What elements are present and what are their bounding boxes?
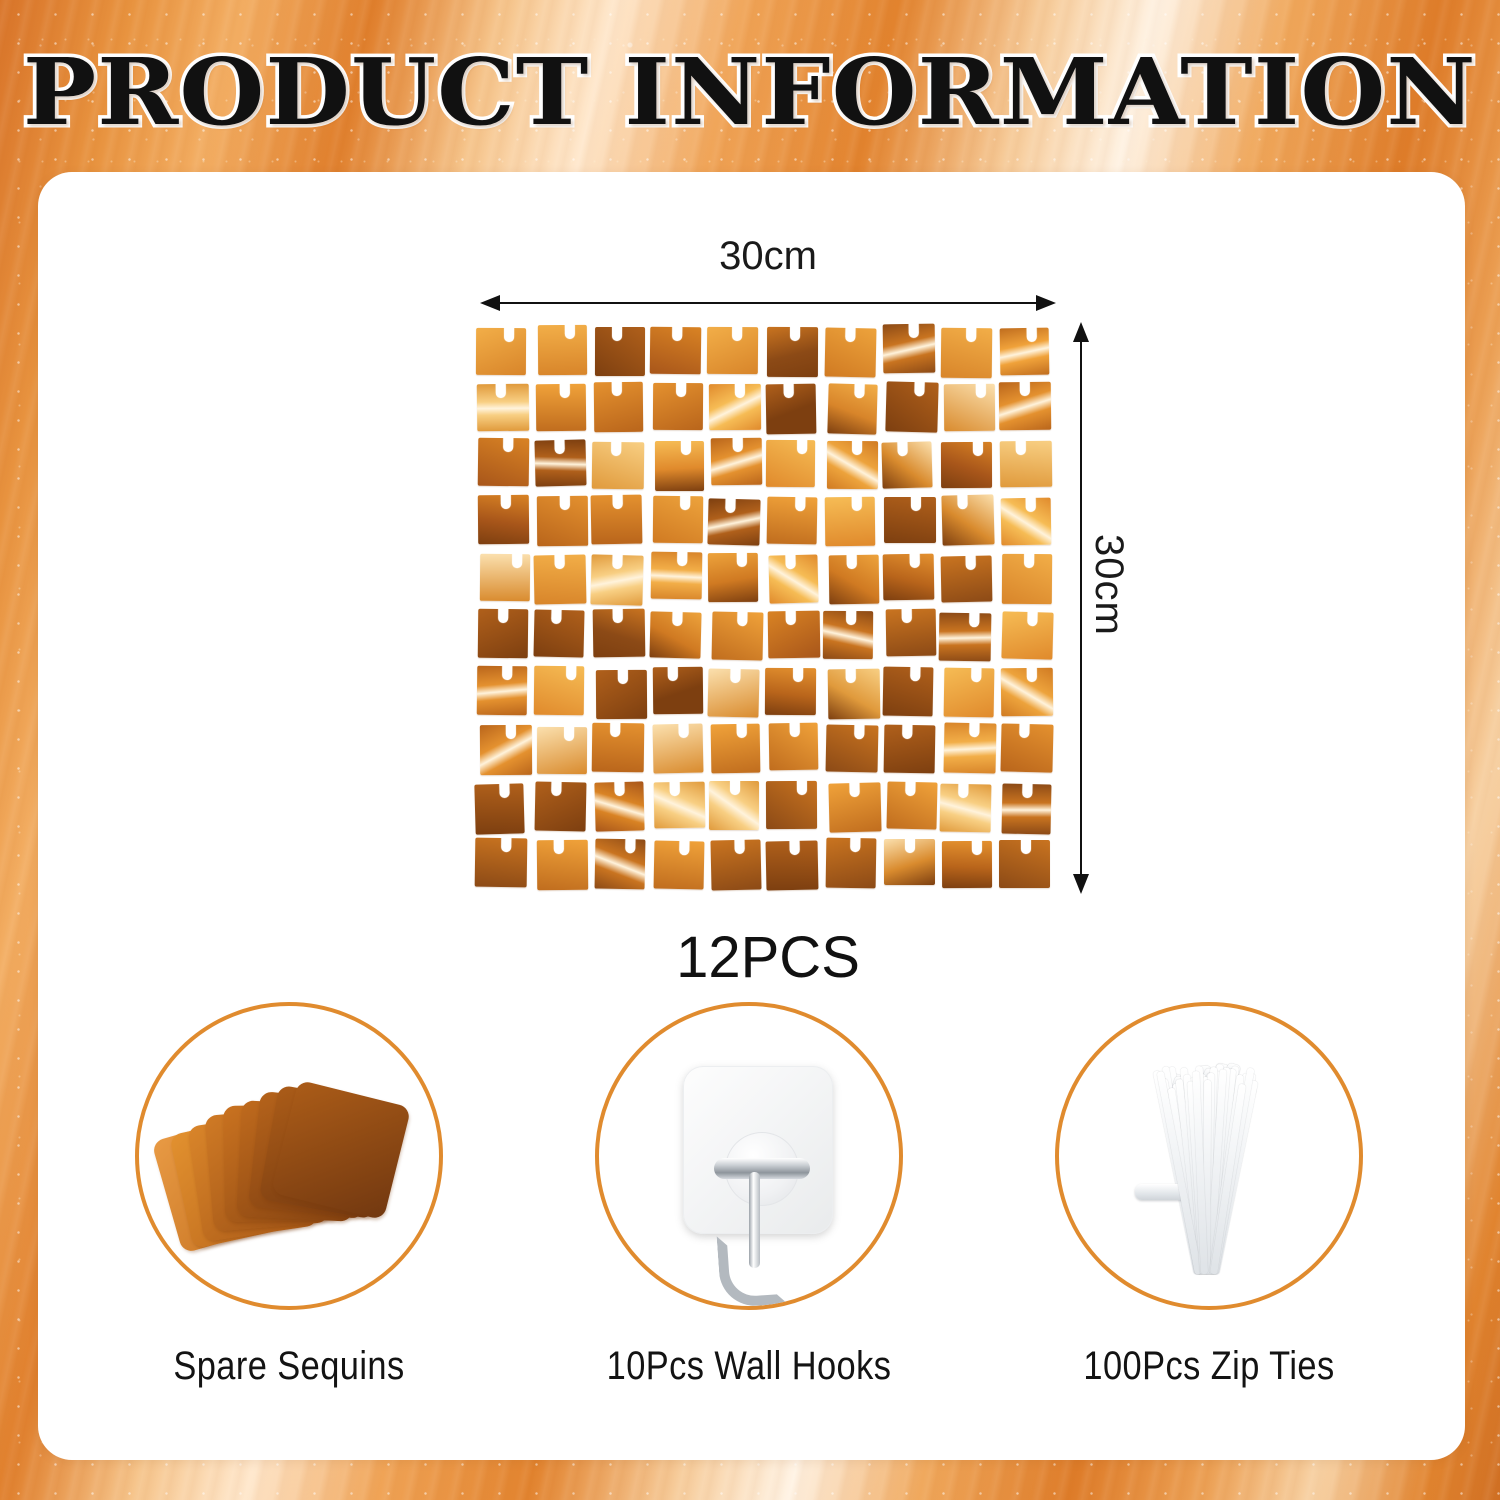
sequin-notch bbox=[910, 666, 920, 681]
sequin-notch bbox=[1019, 722, 1029, 737]
sequin-tile bbox=[881, 442, 933, 489]
sequin-notch bbox=[783, 383, 793, 398]
sequin-notch bbox=[1024, 553, 1034, 568]
sequin-tile bbox=[708, 498, 761, 546]
sequin-notch bbox=[613, 554, 623, 569]
sequin-notch bbox=[1019, 381, 1029, 396]
sequin-tile bbox=[823, 611, 874, 659]
sequin-notch bbox=[611, 441, 621, 456]
sequin-notch bbox=[503, 437, 513, 452]
sequin-tile bbox=[711, 839, 762, 890]
sequin-tile bbox=[655, 441, 704, 491]
sequin-notch bbox=[737, 723, 747, 738]
sequin-tile bbox=[594, 381, 644, 431]
sequin-tile bbox=[940, 556, 992, 603]
sequin-tile bbox=[538, 325, 587, 375]
sequin-notch bbox=[676, 551, 686, 566]
sequin-notch bbox=[973, 440, 983, 455]
sequin-tile bbox=[534, 665, 584, 715]
sequin-notch bbox=[735, 382, 745, 397]
sequin-notch bbox=[681, 440, 691, 455]
sequin-tile bbox=[653, 666, 703, 714]
sequin-tile bbox=[537, 840, 588, 890]
sequin-notch bbox=[552, 781, 562, 796]
sequin-notch bbox=[897, 441, 907, 456]
sequin-notch bbox=[969, 612, 979, 627]
sequin-tile bbox=[767, 327, 818, 377]
sequin-notch bbox=[965, 555, 975, 570]
sequin-tile bbox=[595, 326, 645, 375]
sequin-notch bbox=[612, 325, 622, 340]
sequin-tile bbox=[711, 724, 761, 774]
accessory-item-wall-hooks: 10Pcs Wall Hooks bbox=[534, 1002, 964, 1389]
sequin-notch bbox=[1023, 783, 1033, 798]
accessory-caption: 10Pcs Wall Hooks bbox=[564, 1344, 934, 1389]
sequin-notch bbox=[565, 324, 575, 339]
sequin-notch bbox=[845, 327, 855, 342]
sequin-tile bbox=[1001, 554, 1051, 604]
sequin-notch bbox=[554, 554, 564, 569]
sequin-notch bbox=[796, 496, 806, 511]
sequin-tile bbox=[591, 722, 644, 771]
sequin-notch bbox=[846, 668, 856, 683]
sequin-tile bbox=[475, 837, 527, 887]
sequin-notch bbox=[785, 554, 795, 569]
sequin-notch bbox=[905, 838, 915, 853]
sequin-tile bbox=[886, 609, 936, 656]
sequin-tile bbox=[999, 382, 1051, 430]
sequin-tile bbox=[535, 781, 587, 831]
sequin-notch bbox=[915, 381, 925, 396]
sequin-notch bbox=[911, 496, 921, 511]
sequin-tile bbox=[941, 441, 992, 487]
sequin-notch bbox=[512, 553, 522, 568]
zip-tie-bundle-icon bbox=[1151, 1064, 1271, 1274]
sequin-tile bbox=[537, 496, 588, 546]
sequin-tile bbox=[766, 383, 817, 434]
sequin-notch bbox=[852, 440, 862, 455]
sequin-tile bbox=[653, 724, 704, 774]
sequin-notch bbox=[676, 382, 686, 397]
sequin-notch bbox=[498, 608, 508, 623]
sequin-tile bbox=[825, 837, 876, 888]
sequin-tile bbox=[711, 612, 762, 661]
sequin-tile bbox=[1001, 611, 1054, 659]
sequin-notch bbox=[976, 383, 986, 398]
sequin-notch bbox=[506, 724, 516, 739]
sequin-tile bbox=[882, 666, 933, 716]
sequin-tile bbox=[593, 609, 645, 658]
sequin-notch bbox=[679, 723, 689, 738]
sequin-tile bbox=[944, 384, 996, 432]
hook-curve bbox=[717, 1232, 788, 1308]
sequin-tile bbox=[533, 609, 584, 657]
sequin-tile bbox=[825, 724, 878, 772]
sequin-notch bbox=[730, 668, 740, 683]
sequin-tile bbox=[828, 384, 879, 435]
sequin-tile bbox=[709, 781, 760, 830]
sequin-notch bbox=[735, 839, 745, 854]
sequin-tile bbox=[1001, 723, 1054, 772]
sequin-notch bbox=[854, 383, 864, 398]
sequin-notch bbox=[502, 494, 512, 509]
sequin-tile bbox=[653, 383, 703, 430]
sequin-tile bbox=[942, 841, 992, 889]
sequin-tile bbox=[480, 725, 532, 775]
sequin-notch bbox=[1026, 497, 1036, 512]
sequin-notch bbox=[613, 608, 623, 623]
sequin-tile bbox=[999, 840, 1050, 888]
sequin-tile bbox=[768, 611, 820, 659]
sequin-tile bbox=[824, 328, 876, 378]
width-dimension-arrow-icon bbox=[480, 292, 1056, 314]
sequin-notch bbox=[563, 726, 573, 741]
sequin-notch bbox=[504, 327, 514, 342]
content-card: 30cm 30cm 12PCS Spare Sequ bbox=[38, 172, 1465, 1460]
sequin-tile bbox=[590, 554, 643, 605]
sequin-tile bbox=[653, 840, 704, 889]
sequin-notch bbox=[560, 495, 570, 510]
sequin-tile bbox=[944, 667, 995, 717]
sequin-tile bbox=[939, 783, 991, 832]
sequin-tile bbox=[650, 611, 702, 658]
infographic-root: PRODUCT INFORMATION 30cm 30cm 12PCS bbox=[0, 0, 1500, 1500]
sequin-notch bbox=[500, 783, 510, 798]
sequin-stack-circle bbox=[135, 1002, 443, 1310]
sequin-notch bbox=[847, 554, 857, 569]
sequin-tile bbox=[828, 782, 881, 833]
sequin-tile bbox=[649, 327, 700, 374]
sequin-tile bbox=[768, 723, 818, 771]
sequin-tile bbox=[941, 327, 992, 377]
sequin-notch bbox=[737, 611, 747, 626]
sequin-notch bbox=[909, 553, 919, 568]
sequin-tile bbox=[707, 668, 760, 718]
sequin-tile bbox=[478, 438, 530, 487]
sequin-panel-grid bbox=[476, 324, 1056, 894]
sequin-tile bbox=[709, 383, 761, 430]
sequin-tile bbox=[707, 327, 759, 374]
panel-quantity-label: 12PCS bbox=[458, 924, 1078, 991]
sequin-notch bbox=[958, 782, 968, 797]
height-dimension-label: 30cm bbox=[1086, 534, 1131, 636]
width-dimension-label: 30cm bbox=[458, 234, 1078, 279]
sequin-tile bbox=[475, 783, 526, 834]
zip-tie-circle bbox=[1055, 1002, 1363, 1310]
sequin-tile bbox=[883, 324, 936, 374]
sequin-tile bbox=[650, 552, 701, 599]
sequin-tile bbox=[477, 384, 529, 432]
sequin-tile bbox=[942, 494, 995, 545]
sequin-tile bbox=[886, 381, 939, 432]
sequin-tile bbox=[478, 609, 528, 658]
accessory-item-spare-sequins: Spare Sequins bbox=[74, 1002, 504, 1389]
sequin-tile bbox=[884, 725, 936, 774]
sequin-tile bbox=[825, 497, 876, 546]
sequin-tile bbox=[1001, 498, 1052, 545]
sequin-notch bbox=[909, 323, 919, 338]
sequin-notch bbox=[793, 667, 803, 682]
sequin-tile bbox=[886, 781, 937, 829]
sequin-notch bbox=[789, 722, 799, 737]
sequin-notch bbox=[1026, 326, 1036, 341]
sequin-tile bbox=[478, 495, 529, 545]
sequin-notch bbox=[1027, 667, 1037, 682]
sequin-notch bbox=[670, 781, 680, 796]
sequin-notch bbox=[555, 439, 565, 454]
sequin-notch bbox=[905, 781, 915, 796]
sequin-notch bbox=[969, 722, 979, 737]
sequin-notch bbox=[790, 326, 800, 341]
sequin-tile bbox=[594, 839, 645, 890]
sequin-tile bbox=[708, 553, 758, 603]
sequin-tile bbox=[595, 781, 645, 831]
sequin-notch bbox=[502, 837, 512, 852]
sequin-notch bbox=[610, 722, 620, 737]
sequin-tile bbox=[884, 839, 935, 885]
sequin-tile bbox=[591, 494, 643, 544]
sequin-tile bbox=[766, 440, 816, 488]
sequin-tile bbox=[769, 554, 820, 604]
sequin-notch bbox=[680, 495, 690, 510]
sequin-notch bbox=[495, 383, 505, 398]
sequin-notch bbox=[501, 665, 511, 680]
sequin-tile bbox=[654, 782, 706, 829]
sequin-tile bbox=[596, 670, 647, 719]
sequin-notch bbox=[566, 665, 576, 680]
sequin-tile bbox=[1002, 784, 1052, 835]
sequin-notch bbox=[786, 610, 796, 625]
sequin-tile bbox=[710, 437, 761, 485]
sequin-notch bbox=[732, 326, 742, 341]
sequin-notch bbox=[732, 437, 742, 452]
accessories-row: Spare Sequins 10Pcs Wall Hooks bbox=[38, 1002, 1465, 1442]
sequin-tile bbox=[943, 722, 996, 773]
sequin-notch bbox=[971, 667, 981, 682]
sequin-notch bbox=[967, 327, 977, 342]
sequin-tile bbox=[765, 841, 818, 891]
wall-hook-circle bbox=[595, 1002, 903, 1310]
sequin-tile bbox=[653, 496, 704, 543]
sequin-tile bbox=[827, 441, 878, 490]
sequin-notch bbox=[902, 608, 912, 623]
sequin-notch bbox=[613, 381, 623, 396]
sequin-notch bbox=[625, 838, 635, 853]
sequin-notch bbox=[726, 498, 736, 513]
sequin-notch bbox=[850, 782, 860, 797]
sequin-tile bbox=[533, 555, 586, 605]
sequin-notch bbox=[554, 839, 564, 854]
sequin-tile bbox=[828, 669, 880, 720]
accessory-caption: Spare Sequins bbox=[104, 1344, 474, 1389]
sequin-tile bbox=[476, 328, 526, 376]
sequin-notch bbox=[615, 780, 625, 795]
sequin-notch bbox=[679, 840, 689, 855]
accessory-caption: 100Pcs Zip Ties bbox=[1024, 1344, 1394, 1389]
sequin-notch bbox=[972, 840, 982, 855]
sequin-notch bbox=[853, 496, 863, 511]
sequin-notch bbox=[618, 669, 628, 684]
sequin-notch bbox=[797, 780, 807, 795]
sequin-notch bbox=[672, 611, 682, 626]
sequin-tile bbox=[999, 440, 1051, 487]
sequin-tile bbox=[999, 327, 1049, 374]
sequin-tile bbox=[536, 727, 586, 774]
sequin-notch bbox=[958, 494, 968, 509]
sequin-notch bbox=[560, 383, 570, 398]
sequin-tile bbox=[592, 442, 644, 489]
sequin-tile bbox=[828, 554, 878, 604]
sequin-tile bbox=[882, 554, 934, 601]
sequin-notch bbox=[854, 724, 864, 739]
sequin-notch bbox=[1022, 839, 1032, 854]
sequin-notch bbox=[849, 837, 859, 852]
sequin-notch bbox=[797, 439, 807, 454]
sequin-tile bbox=[767, 496, 818, 543]
sequin-notch bbox=[846, 610, 856, 625]
sequin-notch bbox=[671, 326, 681, 341]
sequin-notch bbox=[1015, 440, 1025, 455]
sequin-tile bbox=[536, 384, 587, 432]
product-panel-diagram: 30cm 30cm 12PCS bbox=[458, 234, 1118, 1084]
sequin-notch bbox=[1027, 611, 1037, 626]
sequin-notch bbox=[551, 608, 561, 623]
page-header: PRODUCT INFORMATION bbox=[0, 46, 1500, 138]
sequin-notch bbox=[903, 724, 913, 739]
sequin-tile bbox=[939, 613, 991, 661]
page-title: PRODUCT INFORMATION bbox=[23, 46, 1477, 138]
hook-crossbar bbox=[714, 1158, 810, 1179]
accessory-item-zip-ties: 100Pcs Zip Ties bbox=[994, 1002, 1424, 1389]
sequin-tile bbox=[766, 781, 817, 829]
sequin-tile bbox=[884, 497, 936, 543]
sequin-notch bbox=[737, 552, 747, 567]
sequin-notch bbox=[613, 494, 623, 509]
sequin-notch bbox=[668, 666, 678, 681]
sequin-tile bbox=[765, 668, 816, 715]
sequin-notch bbox=[789, 840, 799, 855]
sequin-tile bbox=[1001, 668, 1053, 716]
sequin-tile bbox=[535, 439, 587, 486]
sequin-tile bbox=[480, 554, 530, 602]
sequin-notch bbox=[729, 780, 739, 795]
sequin-tile bbox=[476, 665, 526, 715]
